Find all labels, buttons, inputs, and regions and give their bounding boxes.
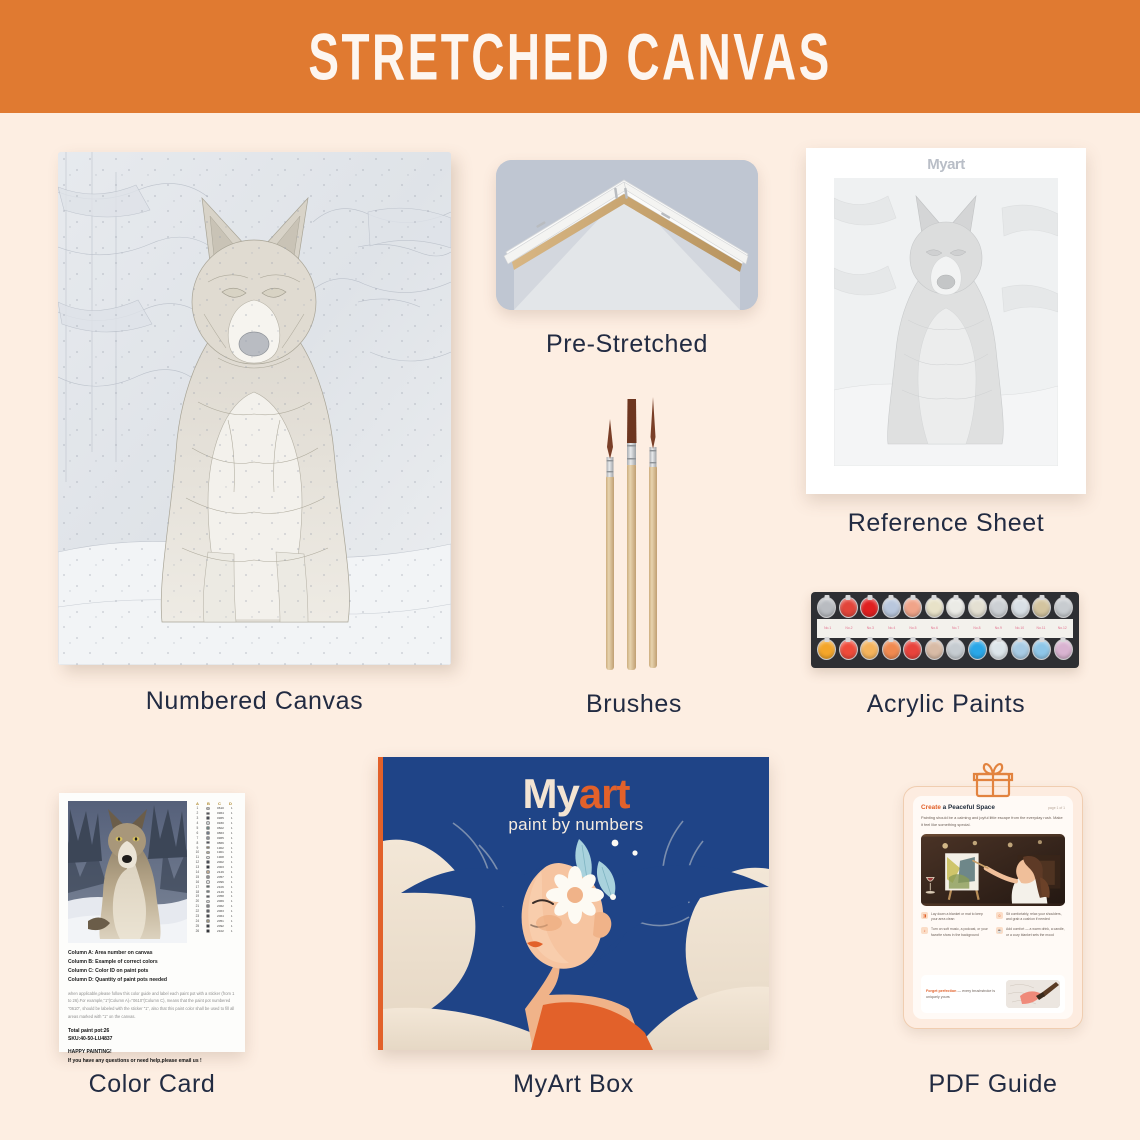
paint-pot-bottom-12 [1054,639,1073,660]
cell-quantity: 1 [227,836,236,840]
header-banner: STRETCHED CANVAS [0,0,1140,113]
pdf-guide-photo [921,834,1065,906]
cell-color-swatch [203,856,214,860]
cell-area-number: 3 [192,816,203,820]
cell-quantity: 1 [227,860,236,864]
cell-color-id: 0610 [213,806,227,810]
cell-color-id: 0930 [213,821,227,825]
pdf-title-accent: Create [921,804,941,811]
color-table-row: 808661 [192,840,236,845]
callout-photo [1006,980,1060,1008]
tip-icon-1: ◨ [921,912,928,919]
paint-pot-top-4 [882,597,901,618]
caption-pre-stretched: Pre-Stretched [496,330,758,359]
cell-quantity: 1 [227,894,236,898]
color-table-row: 1520571 [192,874,236,879]
cell-area-number: 15 [192,875,203,879]
cell-color-swatch [203,929,214,933]
cell-area-number: 26 [192,929,203,933]
paint-pot-top-11 [1032,597,1051,618]
paint-pot-top-7 [946,597,965,618]
cell-area-number: 22 [192,909,203,913]
cell-color-swatch [203,919,214,923]
paint-label-6: No.6 [924,626,945,631]
legend-line-4: Column D: Quantity of paint pots needed [68,976,236,985]
pdf-guide-callout: Forget perfection — every brushstroke is… [921,975,1065,1013]
cell-area-number: 10 [192,850,203,854]
cell-color-id: 2002 [213,860,227,864]
wolf-grayscale-art [834,178,1058,466]
cell-area-number: 6 [192,831,203,835]
cell-quantity: 1 [227,811,236,815]
paint-pot-top-2 [839,597,858,618]
paint-pot-top-12 [1054,597,1073,618]
pdf-guide-title: Create a Peaceful Space [921,804,995,811]
color-table-row: 1721061 [192,884,236,889]
cell-quantity: 1 [227,914,236,918]
color-table-row: 1320031 [192,865,236,870]
paint-label-9: No.9 [988,626,1009,631]
caption-pdf-guide: PDF Guide [860,1070,1126,1099]
cell-color-id: 2129 [213,890,227,894]
cell-area-number: 18 [192,890,203,894]
paint-label-12: No.12 [1052,626,1073,631]
legend-line-3: Column C: Color ID on paint pots [68,967,236,976]
cell-area-number: 1 [192,806,203,810]
tip-text-4: Add comfort — a warm drink, a candle, or… [1006,927,1065,939]
cell-quantity: 1 [227,870,236,874]
paint-pot-top-10 [1011,597,1030,618]
cell-color-id: 2051 [213,919,227,923]
pdf-tip-1: ◨Lay down a blanket or mat to keep your … [921,912,990,924]
cell-color-swatch [203,841,214,845]
pdf-guide-image: Create a Peaceful Space page 1 of 1 Pain… [903,786,1083,1029]
cell-color-id: 0964 [213,811,227,815]
color-card-note: when applicable,please follow this color… [68,990,236,1021]
cell-color-swatch [203,812,214,816]
pdf-guide-tips: ◨Lay down a blanket or mat to keep your … [921,912,1065,939]
tip-icon-3: ♪ [921,927,928,934]
product-infographic: STRETCHED CANVAS [0,0,1140,1140]
cell-quantity: 1 [227,841,236,845]
box-subtitle: paint by numbers [383,815,769,835]
cell-color-id: 0602 [213,826,227,830]
color-table-row: 919021 [192,845,236,850]
cell-color-swatch [203,895,214,899]
cell-color-id: 2106 [213,885,227,889]
pdf-guide-description: Painting should be a calming and joyful … [921,815,1065,829]
color-table-row: 709651 [192,835,236,840]
cell-area-number: 25 [192,924,203,928]
cell-quantity: 1 [227,929,236,933]
cell-area-number: 24 [192,919,203,923]
cell-quantity: 1 [227,909,236,913]
cell-area-number: 2 [192,811,203,815]
caption-color-card: Color Card [20,1070,284,1099]
cell-color-id: 0965 [213,816,227,820]
paint-label-7: No.7 [945,626,966,631]
paint-pot-bottom-6 [925,639,944,660]
cell-color-swatch [203,821,214,825]
myart-logo-reference: Myart [806,156,1086,173]
cell-area-number: 7 [192,836,203,840]
paint-pot-bottom-9 [989,639,1008,660]
cell-quantity: 1 [227,846,236,850]
color-table-header-b: B [203,801,214,806]
numbered-canvas-image [58,152,451,665]
cell-quantity: 1 [227,919,236,923]
pdf-tip-3: ♪Turn on soft music, a podcast, or your … [921,927,990,939]
cell-color-swatch [203,836,214,840]
cell-color-id: 1902 [213,846,227,850]
color-table-row: 1920581 [192,894,236,899]
paint-pot-bottom-1 [817,639,836,660]
pdf-page-label: page 1 of 1 [1048,806,1065,810]
paint-pot-bottom-2 [839,639,858,660]
color-table-row: 1821291 [192,889,236,894]
color-table-row: 409301 [192,821,236,826]
paint-pot-bottom-3 [860,639,879,660]
cell-color-swatch [203,826,214,830]
cell-color-swatch [203,875,214,879]
cell-color-swatch [203,846,214,850]
cell-quantity: 1 [227,826,236,830]
pdf-title-rest: a Peaceful Space [941,804,995,811]
paint-pot-row-bottom [815,639,1075,660]
color-table-header: ABCD [192,801,236,806]
cell-quantity: 1 [227,904,236,908]
cell-area-number: 17 [192,885,203,889]
gift-icon [904,759,1082,799]
color-table-header-c: C [214,801,225,806]
cell-color-id: 0965 [213,836,227,840]
happy-painting-label: HAPPY PAINTING! [68,1048,236,1057]
acrylic-paints-image: No.1No.2No.3No.4No.5No.6No.7No.8No.9No.1… [811,592,1079,668]
pdf-tip-2: ☺Sit comfortably, relax your shoulders, … [996,912,1065,924]
cell-color-id: 2069 [213,899,227,903]
cell-area-number: 5 [192,826,203,830]
paint-label-1: No.1 [817,626,838,631]
caption-myart-box: MyArt Box [378,1070,769,1099]
paint-label-2: No.2 [838,626,859,631]
paint-pot-top-9 [989,597,1008,618]
callout-bold: Forget perfection [926,989,956,993]
color-table-row: 1220021 [192,860,236,865]
caption-numbered-canvas: Numbered Canvas [58,687,451,716]
color-table-row: 2020691 [192,899,236,904]
cell-quantity: 1 [227,816,236,820]
paint-label-4: No.4 [881,626,902,631]
cell-area-number: 16 [192,880,203,884]
paint-pot-bottom-4 [882,639,901,660]
brush-closeup-photo [1006,980,1060,1008]
cell-quantity: 1 [227,865,236,869]
color-table-row: 209641 [192,811,236,816]
pre-stretched-image [496,160,758,310]
paint-pot-bottom-10 [1011,639,1030,660]
color-table-row: 608631 [192,830,236,835]
cell-area-number: 19 [192,894,203,898]
sku-label: SKU:40-50-LU4837 [68,1035,236,1044]
cell-color-swatch [203,885,214,889]
cell-quantity: 1 [227,885,236,889]
logo-art: art [579,770,630,817]
cell-color-swatch [203,865,214,869]
myart-box-image: Myart paint by numbers [378,757,769,1050]
paint-brushes [586,385,682,675]
cell-quantity: 1 [227,821,236,825]
cell-color-swatch [203,924,214,928]
cell-color-id: 0866 [213,841,227,845]
cell-area-number: 11 [192,855,203,859]
color-table-row: 2120621 [192,904,236,909]
color-table-row: 2420511 [192,918,236,923]
cell-color-swatch [203,904,214,908]
color-table-row: 506021 [192,826,236,831]
cell-area-number: 9 [192,846,203,850]
color-table-row: 1119081 [192,855,236,860]
color-table-row: 106101 [192,806,236,811]
total-paint-pot: Total paint pot:26 [68,1027,236,1036]
cell-color-id: 2058 [213,894,227,898]
cell-color-id: 2129 [213,870,227,874]
cell-color-id: 2102 [213,929,227,933]
color-card-wolf-photo [68,801,187,943]
caption-acrylic-paints: Acrylic Paints [806,690,1086,719]
cell-area-number: 23 [192,914,203,918]
cell-color-swatch [203,890,214,894]
cell-quantity: 1 [227,855,236,859]
color-table: ABCD 10610120964130965140930150602160863… [192,801,236,943]
paint-pot-bottom-8 [968,639,987,660]
wolf-photo [68,801,187,943]
cell-area-number: 12 [192,860,203,864]
cell-color-swatch [203,807,214,811]
color-table-row: 1620961 [192,879,236,884]
cell-color-swatch [203,831,214,835]
canvas-frame-corner [496,160,758,310]
color-table-row: 2520921 [192,923,236,928]
tip-icon-2: ☺ [996,912,1003,919]
cell-quantity: 1 [227,875,236,879]
paint-pot-top-8 [968,597,987,618]
paint-label-8: No.8 [966,626,987,631]
color-card-legend: Column A: Area number on canvasColumn B:… [68,949,236,985]
cell-color-id: 1901 [213,850,227,854]
paint-pot-top-6 [925,597,944,618]
cell-color-id: 2063 [213,909,227,913]
wolf-line-art [58,152,451,665]
cell-quantity: 1 [227,880,236,884]
cell-color-swatch [203,870,214,874]
cell-area-number: 20 [192,899,203,903]
woman-painting-photo [921,834,1065,906]
color-table-row: 2621021 [192,928,236,933]
color-table-header-a: A [192,801,203,806]
paint-label-3: No.3 [860,626,881,631]
cell-color-id: 2057 [213,875,227,879]
cell-color-swatch [203,851,214,855]
tip-icon-4: ☕ [996,927,1003,934]
paint-pot-top-3 [860,597,879,618]
paint-label-10: No.10 [1009,626,1030,631]
caption-brushes: Brushes [500,690,768,719]
paint-label-5: No.5 [902,626,923,631]
tip-text-3: Turn on soft music, a podcast, or your f… [931,927,990,939]
reference-sheet-image: Myart [806,148,1086,494]
cell-area-number: 14 [192,870,203,874]
cell-quantity: 1 [227,831,236,835]
cell-area-number: 13 [192,865,203,869]
paint-pot-bottom-7 [946,639,965,660]
cell-color-swatch [203,860,214,864]
pdf-tip-4: ☕Add comfort — a warm drink, a candle, o… [996,927,1065,939]
cell-color-id: 2064 [213,914,227,918]
legend-line-1: Column A: Area number on canvas [68,949,236,958]
cell-color-id: 2003 [213,865,227,869]
color-card-footer: Total paint pot:26 SKU:40-50-LU4837 HAPP… [68,1027,236,1066]
paint-label-11: No.11 [1030,626,1051,631]
cell-quantity: 1 [227,806,236,810]
paint-pot-row-top [815,597,1075,618]
cell-color-swatch [203,914,214,918]
cell-quantity: 1 [227,899,236,903]
contact-label: If you have any questions or need help,p… [68,1057,236,1066]
cell-color-id: 2096 [213,880,227,884]
cell-color-swatch [203,880,214,884]
color-card-image: ABCD 10610120964130965140930150602160863… [59,793,245,1052]
color-table-row: 1019011 [192,850,236,855]
color-table-header-d: D [225,801,236,806]
cell-quantity: 1 [227,850,236,854]
cell-color-id: 0863 [213,831,227,835]
color-table-row: 2220631 [192,909,236,914]
legend-line-2: Column B: Example of correct colors [68,958,236,967]
cell-color-swatch [203,900,214,904]
paint-pot-top-1 [817,597,836,618]
page-title: STRETCHED CANVAS [308,18,831,95]
cell-quantity: 1 [227,890,236,894]
cell-area-number: 4 [192,821,203,825]
caption-reference-sheet: Reference Sheet [806,509,1086,538]
tip-text-1: Lay down a blanket or mat to keep your a… [931,912,990,924]
cell-color-swatch [203,909,214,913]
logo-my: My [522,770,578,817]
cell-color-id: 2092 [213,924,227,928]
reference-wolf-image [834,178,1058,466]
color-table-row: 1421291 [192,870,236,875]
cell-color-swatch [203,816,214,820]
paint-pot-bottom-11 [1032,639,1051,660]
cell-area-number: 21 [192,904,203,908]
cell-quantity: 1 [227,924,236,928]
brushes-image [586,385,682,675]
color-table-row: 2320641 [192,914,236,919]
paint-pot-bottom-5 [903,639,922,660]
tip-text-2: Sit comfortably, relax your shoulders, a… [1006,912,1065,924]
paint-pot-top-5 [903,597,922,618]
myart-logo: Myart [383,770,769,818]
color-table-row: 309651 [192,816,236,821]
cell-color-id: 1908 [213,855,227,859]
cell-area-number: 8 [192,841,203,845]
paint-label-strip: No.1No.2No.3No.4No.5No.6No.7No.8No.9No.1… [817,619,1073,638]
cell-color-id: 2062 [213,904,227,908]
